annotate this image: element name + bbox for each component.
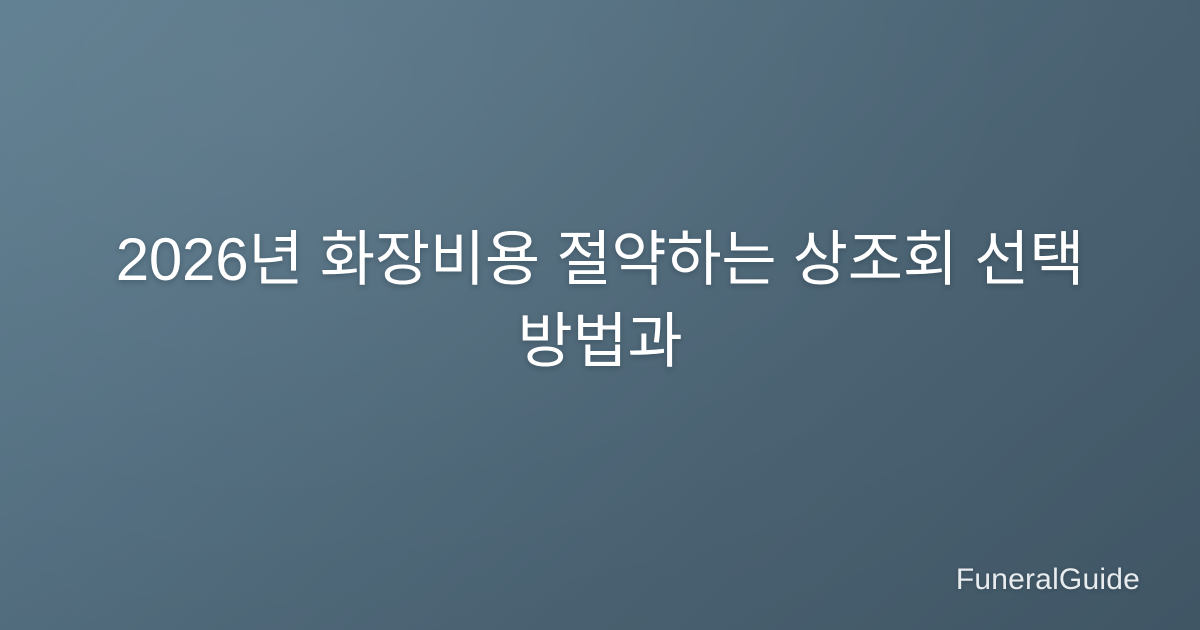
- headline-container: 2026년 화장비용 절약하는 상조회 선택 방법과: [0, 0, 1200, 630]
- og-share-card: 2026년 화장비용 절약하는 상조회 선택 방법과 FuneralGuide: [0, 0, 1200, 630]
- page-title: 2026년 화장비용 절약하는 상조회 선택 방법과: [92, 219, 1108, 383]
- site-watermark: FuneralGuide: [956, 562, 1140, 598]
